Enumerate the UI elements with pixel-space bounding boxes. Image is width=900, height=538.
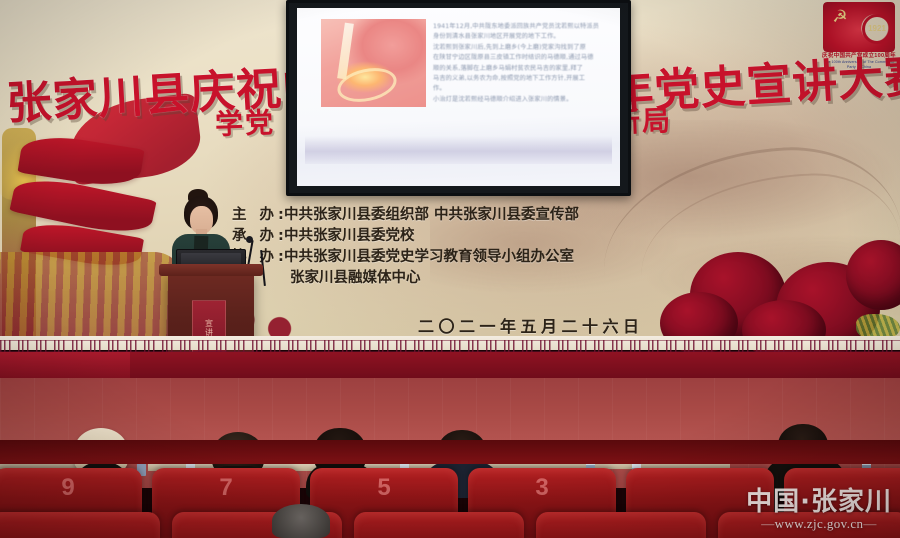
organizer-value: 中共张家川县委党校 xyxy=(284,228,415,244)
hammer-sickle-icon: ☭ xyxy=(829,7,851,27)
slide-text-block: 1941年12月,中共陇东地委派回族共产党员沈若熙以特派员 身份到清水县张家川地… xyxy=(433,22,612,105)
seat-number: 3 xyxy=(535,474,548,502)
organizer-row: 协 办:中共张家川县委党史学习教育领导小组办公室 xyxy=(232,247,852,268)
seat-number: 9 xyxy=(61,474,74,502)
organizer-value: 中共张家川县委组织部 中共张家川县委宣传部 xyxy=(284,207,579,223)
slide-line: 在陕甘宁边区陇原县三皮镇工作时结识的马德顺,通过马德 xyxy=(433,53,612,63)
attendee-head-front-row xyxy=(272,504,330,538)
seat-number: 5 xyxy=(377,474,390,502)
seat-front-row xyxy=(0,512,160,538)
podium-top-surface xyxy=(159,264,263,276)
seat-front-row xyxy=(354,512,524,538)
seat-number: 7 xyxy=(219,474,232,502)
slide-line: 作。 xyxy=(433,84,612,94)
event-photo: ☭ 1921 庆祝中国共产党成立100周年 The 100th Annivers… xyxy=(0,0,900,538)
slide-line: 顺的关系,落脚在上磨乡马娟村贫农民马吉的家里,拜了 xyxy=(433,64,612,74)
slide-line: 沈若熙到张家川后,先到上磨乡(今上磨)党家沟找到了原 xyxy=(433,43,612,53)
organizer-value: 中共张家川县委党史学习教育领导小组办公室 xyxy=(284,249,574,265)
subtitle-left-text: 学党 xyxy=(214,101,275,143)
anniversary-emblem: ☭ 1921 庆祝中国共产党成立100周年 The 100th Annivers… xyxy=(822,2,896,76)
slide-line: 身份到清水县张家川地区开展党的地下工作。 xyxy=(433,32,612,42)
seat-front-row xyxy=(536,512,706,538)
screen-reflection xyxy=(305,136,612,164)
projected-slide: 1941年12月,中共陇东地委派回族共产党员沈若熙以特派员 身份到清水县张家川地… xyxy=(297,8,620,186)
organizer-row: 主 办:中共张家川县委组织部 中共张家川县委宣传部 xyxy=(232,205,852,226)
projection-screen: 1941年12月,中共陇东地委派回族共产党员沈若熙以特派员 身份到清水县张家川地… xyxy=(286,0,631,196)
stage-skirt xyxy=(0,352,900,380)
seat-front-row xyxy=(718,512,900,538)
stage-skirt-left xyxy=(0,352,130,380)
slide-line: 小治灯是沈若熙经马德顺介绍进入张家川的情景。 xyxy=(433,95,612,105)
golden-monument-relief-icon xyxy=(0,252,184,344)
emblem-year-ring: 1921 xyxy=(862,14,892,44)
emblem-caption-cn: 庆祝中国共产党成立100周年 xyxy=(822,53,896,60)
slide-photo-icon xyxy=(321,19,426,107)
emblem-caption-en: The 100th Anniversary of The Communist P… xyxy=(822,60,896,70)
organizer-block: 主 办:中共张家川县委组织部 中共张家川县委宣传部 承 办:中共张家川县委党校 … xyxy=(232,205,852,289)
organizer-extra: 张家川县融媒体中心 xyxy=(232,268,852,289)
slide-line: 马吉的义弟,以务农为命,按照党的地下工作方针,开展工 xyxy=(433,74,612,84)
meander-border-lines xyxy=(0,340,900,352)
event-date: 二〇二一年五月二十六日 xyxy=(418,313,644,337)
slide-line: 1941年12月,中共陇东地委派回族共产党员沈若熙以特派员 xyxy=(433,22,612,32)
organizer-row: 承 办:中共张家川县委党校 xyxy=(232,226,852,247)
